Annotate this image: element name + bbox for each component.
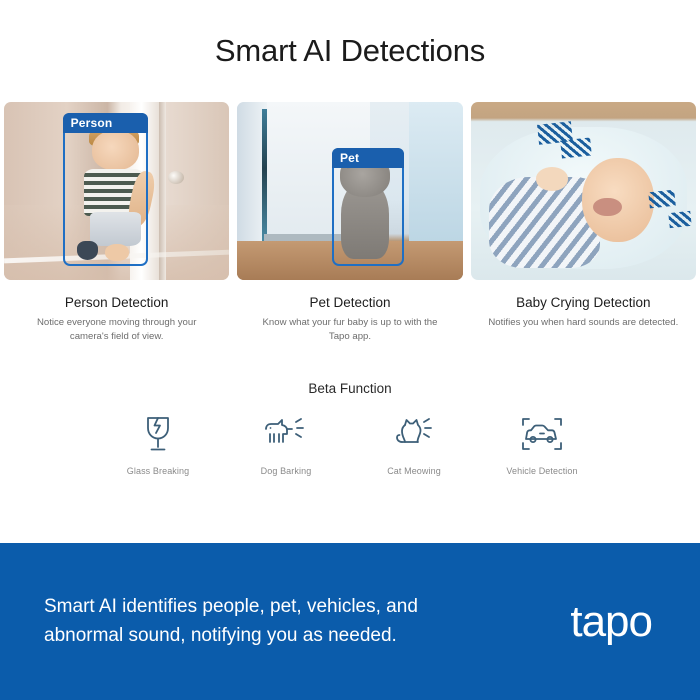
panel-subtitle-pet: Know what your fur baby is up to with th…: [237, 316, 462, 345]
panel-title-baby: Baby Crying Detection: [471, 295, 696, 310]
beta-label-glass-breaking: Glass Breaking: [110, 466, 206, 476]
sound-stripe: [560, 138, 592, 159]
panel-title-pet: Pet Detection: [237, 295, 462, 310]
beta-label-dog-barking: Dog Barking: [238, 466, 334, 476]
detection-panel-row: Person Person Detection Notice everyone …: [0, 102, 700, 345]
pet-detection-box: Pet: [332, 148, 404, 265]
pet-detection-tag: Pet: [332, 148, 404, 168]
person-detection-box: Person: [63, 113, 149, 266]
beta-label-cat-meowing: Cat Meowing: [366, 466, 462, 476]
beta-label-vehicle-detection: Vehicle Detection: [494, 466, 590, 476]
door-knob: [168, 171, 184, 184]
vehicle-focus-icon: [494, 413, 590, 455]
panel-subtitle-person: Notice everyone moving through your came…: [4, 316, 229, 345]
person-detection-tag: Person: [63, 113, 149, 133]
sound-wave-indicator: [471, 102, 696, 280]
panel-title-person: Person Detection: [4, 295, 229, 310]
sound-stripe: [648, 190, 676, 209]
person-detection-image: Person: [4, 102, 229, 280]
panel-subtitle-baby: Notifies you when hard sounds are detect…: [471, 316, 696, 330]
bottom-banner: Smart AI identifies people, pet, vehicle…: [0, 543, 700, 700]
banner-tagline: Smart AI identifies people, pet, vehicle…: [44, 593, 474, 650]
barking-dog-icon: [238, 413, 334, 455]
panel-person-detection: Person Person Detection Notice everyone …: [4, 102, 229, 345]
panel-baby-crying-detection: Baby Crying Detection Notifies you when …: [471, 102, 696, 345]
right-wall: [409, 102, 463, 244]
beta-item-dog-barking: Dog Barking: [238, 413, 334, 476]
panel-pet-detection: Pet Pet Detection Know what your fur bab…: [237, 102, 462, 345]
baby-crying-detection-image: [471, 102, 696, 280]
beta-item-glass-breaking: Glass Breaking: [110, 413, 206, 476]
beta-function-row: Glass Breaking Dog Barking: [0, 413, 700, 476]
beta-item-vehicle-detection: Vehicle Detection: [494, 413, 590, 476]
broken-glass-icon: [110, 413, 206, 455]
tapo-logo: tapo: [570, 600, 662, 644]
beta-function-title: Beta Function: [0, 381, 700, 396]
page-title: Smart AI Detections: [0, 0, 700, 69]
promo-page: Smart AI Detections: [0, 0, 700, 700]
beta-item-cat-meowing: Cat Meowing: [366, 413, 462, 476]
meowing-cat-icon: [366, 413, 462, 455]
crying-baby-in-crib-photo: [471, 102, 696, 280]
pet-detection-image: Pet: [237, 102, 462, 280]
sound-stripe: [668, 211, 691, 228]
